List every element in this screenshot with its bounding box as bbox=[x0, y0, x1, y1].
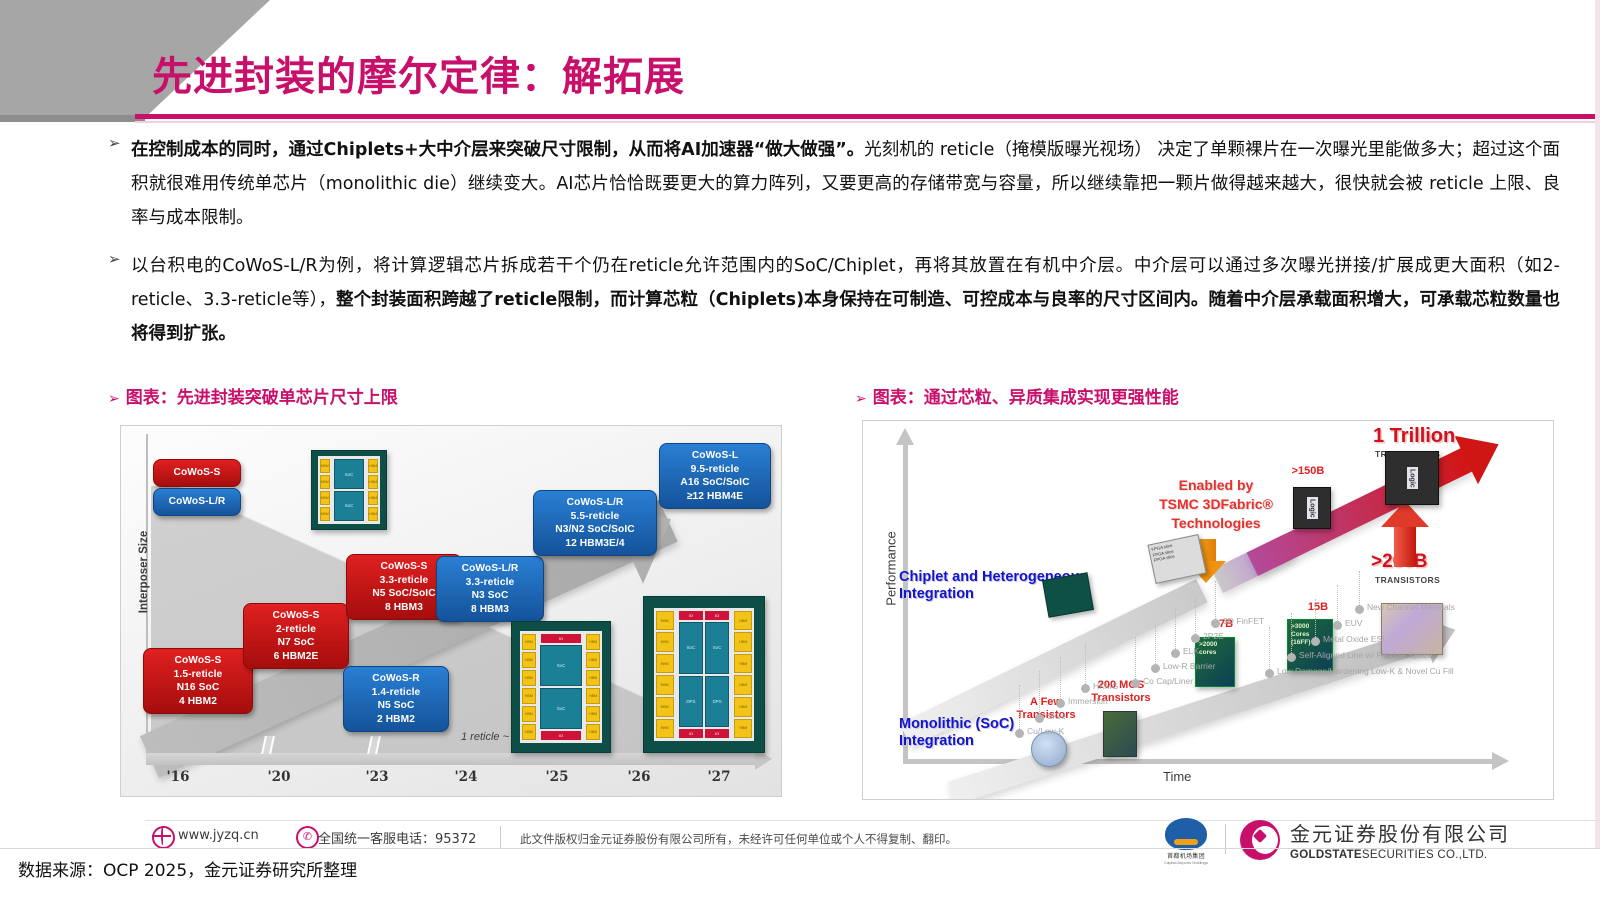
legend-cowos-lr-label: CoWoS-L/R bbox=[158, 495, 236, 509]
hbm-block: HBM bbox=[656, 697, 674, 717]
hbm-block: HBM bbox=[522, 706, 536, 722]
tech-dotline bbox=[1337, 585, 1339, 623]
tech-label-hkmg: HKMG bbox=[1093, 681, 1119, 691]
hbm-block: HBM bbox=[522, 724, 536, 740]
hbm-block: HBM bbox=[522, 688, 536, 704]
hbm-block: HBM bbox=[320, 491, 330, 505]
caption-arrow-icon-right: ➢ bbox=[855, 391, 867, 407]
source-rule bbox=[0, 848, 1600, 849]
wafer-icon bbox=[1031, 731, 1067, 767]
package-interior: HBM HBM HBM HBM SoC SoC HBM HBM HBM HBM bbox=[318, 456, 380, 523]
dps-row: DPS DPS bbox=[678, 675, 730, 729]
header-thin-rule bbox=[135, 121, 1600, 123]
hbm-block: HBM bbox=[734, 697, 752, 717]
tech-label-immersion: Immersion bbox=[1068, 696, 1108, 706]
bullet-tail-2: 整个封装面积跨越了reticle限制，而计算芯粒（Chiplets)本身保持在可… bbox=[131, 290, 1560, 344]
node-soc: N3 SoC bbox=[444, 589, 536, 603]
caption-text-right: 图表：通过芯粒、异质集成实现更强性能 bbox=[873, 388, 1179, 408]
bullet-lead-1: 在控制成本的同时，通过Chiplets+大中介层来突破尺寸限制，从而将AI加速器… bbox=[131, 140, 864, 160]
hbm-column-right: HBM HBM HBM HBM bbox=[366, 456, 380, 523]
node-soc: N5 SoC bbox=[351, 699, 441, 713]
tech-label-3d-finfet: 3D FinFET bbox=[1223, 616, 1264, 626]
left-chart-y-axis-label: Interposer Size bbox=[138, 512, 150, 632]
milestone-150b: >150B bbox=[1283, 465, 1333, 478]
io-block: IO bbox=[705, 729, 729, 738]
tech-label-self-aligned: Self-Aligned Line w/ Flexible Space bbox=[1299, 650, 1432, 660]
soc-block: SoC bbox=[705, 622, 729, 674]
integration-up-arrow-icon bbox=[1385, 501, 1425, 567]
goldstate-mark-icon bbox=[1240, 820, 1280, 860]
node-reticle: 1.5-reticle bbox=[151, 668, 245, 682]
logic-chip-label: Logic bbox=[1307, 497, 1318, 520]
tech-label-elk: ELK bbox=[1183, 646, 1199, 656]
tech-dotline bbox=[1060, 657, 1062, 701]
slide-root: 先进封装的摩尔定律：解拓展 ➢ 在控制成本的同时，通过Chiplets+大中介层… bbox=[0, 0, 1600, 900]
hbm-block: HBM bbox=[522, 670, 536, 686]
node-reticle: 2-reticle bbox=[251, 623, 341, 637]
x-tick-23: '23 bbox=[366, 769, 389, 785]
footer-website[interactable]: www.jyzq.cn bbox=[178, 828, 259, 843]
bullet-arrow-icon: ➢ bbox=[108, 136, 121, 151]
node-hbm: ≥12 HBM4E bbox=[667, 490, 763, 504]
node-hbm: 2 HBM2 bbox=[351, 713, 441, 727]
right-edge-strip bbox=[1595, 0, 1600, 848]
hbm-block: HBM bbox=[734, 654, 752, 674]
tech-label-metal-oxide-esl: Metal Oxide ESL bbox=[1323, 634, 1387, 644]
hbm-block: HBM bbox=[734, 719, 752, 739]
footer-hotline: 全国统一客服电话：95372 bbox=[318, 828, 476, 847]
hbm-block: HBM bbox=[586, 634, 600, 650]
x-tick-20: '20 bbox=[268, 769, 291, 785]
hbm-block: HBM bbox=[656, 654, 674, 674]
tech-label-2p2e: 2P2E bbox=[1203, 631, 1224, 641]
dps-block: DPS bbox=[679, 676, 703, 728]
footer-copyright: 此文件版权归金元证券股份有限公司所有，未经许可任何单位或个人不得复制、翻印。 bbox=[520, 831, 957, 847]
x-tick-24: '24 bbox=[455, 769, 478, 785]
hbm-block: HBM bbox=[368, 507, 378, 521]
tech-dotline bbox=[1269, 627, 1271, 671]
hbm-column-left: HBM HBM HBM HBM HBM HBM bbox=[654, 608, 676, 741]
node-cowos-l-9-5-reticle[interactable]: CoWoS-L 9.5-reticle A16 SoC/SoIC ≥12 HBM… bbox=[659, 443, 771, 509]
io-block: IO bbox=[541, 731, 581, 740]
hbm-column-right: HBM HBM HBM HBM HBM HBM bbox=[584, 631, 602, 743]
bullet-arrow-icon-2: ➢ bbox=[108, 252, 121, 267]
hbm-block: HBM bbox=[320, 507, 330, 521]
node-cowos-lr-3-3-reticle[interactable]: CoWoS-L/R 3.3-reticle N3 SoC 8 HBM3 bbox=[436, 556, 544, 622]
hbm-block: HBM bbox=[586, 688, 600, 704]
header-accent-rule bbox=[135, 114, 1600, 119]
tech-label-cu-low-k: Cu/Low-K bbox=[1027, 726, 1064, 736]
caption-text-left: 图表：先进封装突破单芯片尺寸上限 bbox=[126, 388, 398, 408]
hbm-block: HBM bbox=[656, 611, 674, 631]
hbm-column-right: HBM HBM HBM HBM HBM HBM bbox=[732, 608, 754, 741]
node-reticle: 3.3-reticle bbox=[444, 576, 536, 590]
hbm-block: HBM bbox=[368, 459, 378, 473]
hbm-block: HBM bbox=[586, 706, 600, 722]
io-block: IO bbox=[679, 611, 703, 620]
globe-icon bbox=[152, 826, 175, 849]
hbm-block: HBM bbox=[522, 634, 536, 650]
airport-mark-icon bbox=[1165, 818, 1207, 850]
tech-dotline bbox=[1155, 623, 1157, 666]
node-family: CoWoS-S bbox=[151, 654, 245, 668]
node-reticle: 5.5-reticle bbox=[541, 510, 649, 524]
node-family: CoWoS-L/R bbox=[541, 496, 649, 510]
node-soc: N16 SoC bbox=[151, 681, 245, 695]
page-title: 先进封装的摩尔定律：解拓展 bbox=[152, 44, 685, 102]
hbm-block: HBM bbox=[734, 632, 752, 652]
milestone-200b-sub: TRANSISTORS bbox=[1375, 575, 1440, 585]
logic-chip-1t-icon: Logic bbox=[1385, 451, 1439, 505]
node-family: CoWoS-S bbox=[251, 609, 341, 623]
tech-label-new-channel: New Channel Materials bbox=[1367, 602, 1455, 612]
core-count-label: >3000 Cores (16FF) bbox=[1291, 623, 1311, 646]
node-soc: N3/N2 SoC/SoIC bbox=[541, 523, 649, 537]
cores-3000-chip-icon: >3000 Cores (16FF) bbox=[1287, 619, 1333, 671]
tech-dotline bbox=[1315, 599, 1317, 639]
soc-column: SoC SoC bbox=[332, 456, 367, 523]
io-block: IO bbox=[541, 634, 581, 643]
hbm-block: HBM bbox=[586, 652, 600, 668]
hbm-block: HBM bbox=[586, 724, 600, 740]
legend-cowos-s[interactable]: CoWoS-S bbox=[153, 459, 241, 487]
source-note: 数据来源：OCP 2025，金元证券研究所整理 bbox=[18, 856, 357, 881]
soc-block: SoC bbox=[679, 622, 703, 674]
right-chart-y-axis-label: Performance bbox=[884, 509, 899, 629]
node-reticle: 1.4-reticle bbox=[351, 686, 441, 700]
milestone-15b: 15B bbox=[1303, 601, 1333, 614]
airport-logo-en: Capital Airports Holdings bbox=[1155, 860, 1217, 865]
tech-dotline bbox=[1039, 671, 1041, 716]
node-family: CoWoS-R bbox=[351, 672, 441, 686]
io-row-bottom: IO IO bbox=[678, 728, 730, 739]
left-chart-x-axis bbox=[146, 753, 756, 765]
node-cowos-lr-5-5-reticle[interactable]: CoWoS-L/R 5.5-reticle N3/N2 SoC/SoIC 12 … bbox=[533, 490, 657, 556]
footer-divider bbox=[500, 826, 501, 848]
hbm-block: HBM bbox=[368, 475, 378, 489]
package-interior: HBM HBM HBM HBM HBM HBM IO SoC SoC IO HB… bbox=[520, 631, 602, 743]
node-hbm: 4 HBM2 bbox=[151, 695, 245, 709]
hbm-block: HBM bbox=[368, 491, 378, 505]
node-family: CoWoS-L bbox=[667, 449, 763, 463]
hbm-block: HBM bbox=[734, 611, 752, 631]
package-graphic-2025: HBM HBM HBM HBM HBM HBM IO SoC SoC IO HB… bbox=[511, 621, 611, 753]
io-block: IO bbox=[705, 611, 729, 620]
tech-dotline bbox=[1291, 613, 1293, 655]
sub: Transistors bbox=[1016, 709, 1075, 721]
bullet-item-2: ➢ 以台积电的CoWoS-L/R为例，将计算逻辑芯片拆成若干个仍在reticle… bbox=[105, 249, 1560, 351]
node-soc: N7 SoC bbox=[251, 636, 341, 650]
tech-label-low-damage: Low Damage/Hardening Low-K & Novel Cu Fi… bbox=[1277, 666, 1454, 676]
hbm-block: HBM bbox=[586, 670, 600, 686]
airport-logo-cn: 首都机场集团 bbox=[1155, 851, 1217, 860]
goldstate-logo: 金元证券股份有限公司 GOLDSTATESECURITIES CO.,LTD. bbox=[1240, 818, 1510, 861]
dps-block: DPS bbox=[705, 676, 729, 728]
node-cowos-r-1-4-reticle[interactable]: CoWoS-R 1.4-reticle N5 SoC 2 HBM2 bbox=[343, 666, 449, 732]
bullet-list: ➢ 在控制成本的同时，通过Chiplets+大中介层来突破尺寸限制，从而将AI加… bbox=[105, 133, 1560, 365]
package-graphic-2027: HBM HBM HBM HBM HBM HBM IO IO SoC SoC bbox=[643, 596, 765, 753]
legend-cowos-lr[interactable]: CoWoS-L/R bbox=[153, 488, 241, 516]
logic-chip-150b-icon: Logic bbox=[1293, 487, 1331, 529]
hbm-block: HBM bbox=[320, 475, 330, 489]
soc-block: SoC bbox=[540, 688, 582, 729]
chiplet-package-icon bbox=[1042, 572, 1094, 617]
tech-label-sige: SiGe bbox=[1047, 711, 1066, 721]
hbm-block: HBM bbox=[320, 459, 330, 473]
tech-label-co-cap-liner: Co Cap/Liner bbox=[1143, 676, 1193, 686]
tech-dotline bbox=[1085, 643, 1087, 686]
node-hbm: 8 HBM3 bbox=[444, 603, 536, 617]
hbm-column-left: HBM HBM HBM HBM HBM HBM bbox=[520, 631, 538, 743]
logo-divider bbox=[1225, 824, 1226, 854]
goldstate-logo-en: GOLDSTATESECURITIES CO.,LTD. bbox=[1290, 849, 1510, 861]
hbm-block: HBM bbox=[522, 652, 536, 668]
right-chart-x-axis-label: Time bbox=[1163, 769, 1191, 784]
soc-core-column: IO IO SoC SoC DPS DPS IO IO bbox=[676, 608, 732, 741]
soc-block: SoC bbox=[334, 459, 365, 489]
x-tick-27: '27 bbox=[708, 769, 731, 785]
caption-arrow-icon-left: ➢ bbox=[108, 391, 120, 407]
x-tick-25: '25 bbox=[546, 769, 569, 785]
right-chart-x-axis bbox=[903, 759, 1493, 764]
hbm-block: HBM bbox=[656, 675, 674, 695]
chart-caption-right: ➢图表：通过芯粒、异质集成实现更强性能 bbox=[855, 383, 1179, 408]
goldstate-logo-en-rest: SECURITIES CO.,LTD. bbox=[1362, 849, 1488, 861]
tech-dotline bbox=[1175, 609, 1177, 651]
bullet-text-2: 以台积电的CoWoS-L/R为例，将计算逻辑芯片拆成若干个仍在reticle允许… bbox=[131, 249, 1560, 351]
x-tick-16: '16 bbox=[167, 769, 190, 785]
bullet-item-1: ➢ 在控制成本的同时，通过Chiplets+大中介层来突破尺寸限制，从而将AI加… bbox=[105, 133, 1560, 235]
tech-dotline bbox=[1195, 595, 1197, 636]
node-family: CoWoS-L/R bbox=[444, 562, 536, 576]
node-hbm: 12 HBM3E/4 bbox=[541, 537, 649, 551]
x-tick-26: '26 bbox=[628, 769, 651, 785]
header-grey-bar bbox=[0, 115, 145, 122]
core-count-label: >2000 cores bbox=[1199, 641, 1217, 656]
annotation-chiplet-heterogeneous: Chiplet and Heterogeneous Integration bbox=[899, 569, 1129, 603]
goldstate-logo-cn: 金元证券股份有限公司 bbox=[1290, 818, 1510, 847]
hbm-block: HBM bbox=[734, 675, 752, 695]
annotation-tsmc-3dfabric: Enabled by TSMC 3DFabric® Technologies bbox=[1121, 476, 1311, 533]
node-reticle: 9.5-reticle bbox=[667, 463, 763, 477]
tech-dotline bbox=[1019, 685, 1021, 731]
hbm-column-left: HBM HBM HBM HBM bbox=[318, 456, 332, 523]
bullet-text-1: 在控制成本的同时，通过Chiplets+大中介层来突破尺寸限制，从而将AI加速器… bbox=[131, 133, 1560, 235]
tech-dotline bbox=[1359, 571, 1361, 607]
milestone-1-trillion: 1 Trillion bbox=[1373, 425, 1455, 449]
phone-icon: ✆ bbox=[296, 826, 319, 849]
goldstate-wordmark: 金元证券股份有限公司 GOLDSTATESECURITIES CO.,LTD. bbox=[1290, 818, 1510, 861]
io-block: IO bbox=[679, 729, 703, 738]
tech-dotline bbox=[1135, 637, 1137, 681]
io-row-top: IO IO bbox=[678, 610, 730, 621]
node-cowos-s-2-reticle[interactable]: CoWoS-S 2-reticle N7 SoC 6 HBM2E bbox=[243, 603, 349, 669]
node-hbm: 6 HBM2E bbox=[251, 650, 341, 664]
chart-performance-vs-time: Performance Time Chiplet and Heterogeneo… bbox=[862, 420, 1554, 800]
node-soc: A16 SoC/SoIC bbox=[667, 476, 763, 490]
soc-block: SoC bbox=[334, 491, 365, 521]
hbm-block: HBM bbox=[656, 632, 674, 652]
tech-label-euv: EUV bbox=[1345, 618, 1362, 628]
soc-block: SoC bbox=[540, 645, 582, 686]
legend-cowos-s-label: CoWoS-S bbox=[158, 466, 236, 480]
mos-die-icon bbox=[1103, 711, 1137, 757]
tech-label-low-r-barrier: Low-R Barrier bbox=[1163, 661, 1215, 671]
goldstate-logo-en-bold: GOLDSTATE bbox=[1290, 849, 1362, 861]
arrow-stem bbox=[1394, 527, 1416, 567]
node-cowos-s-1-5-reticle[interactable]: CoWoS-S 1.5-reticle N16 SoC 4 HBM2 bbox=[143, 648, 253, 714]
chart-advanced-packaging-roadmap: Interposer Size '16 '20 '23 '24 '25 '26 … bbox=[120, 425, 782, 797]
capital-airports-logo: 首都机场集团 Capital Airports Holdings bbox=[1155, 818, 1217, 865]
tech-dotline bbox=[1215, 581, 1217, 621]
chart-caption-left: ➢图表：先进封装突破单芯片尺寸上限 bbox=[108, 383, 398, 408]
soc-row: SoC SoC bbox=[678, 621, 730, 675]
logic-chip-label: Logic bbox=[1407, 467, 1418, 490]
package-graphic-2023: HBM HBM HBM HBM SoC SoC HBM HBM HBM HBM bbox=[311, 450, 387, 530]
package-interior: HBM HBM HBM HBM HBM HBM IO IO SoC SoC bbox=[654, 608, 755, 741]
hbm-block: HBM bbox=[656, 719, 674, 739]
soc-column: IO SoC SoC IO bbox=[538, 631, 584, 743]
